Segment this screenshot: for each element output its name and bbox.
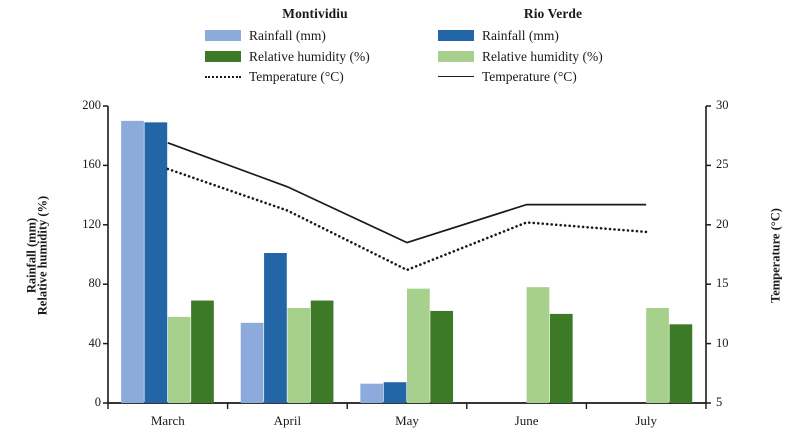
bar (311, 301, 334, 403)
temperature-line-dotted (168, 169, 646, 270)
plot-area (0, 0, 793, 444)
y-axis-tick-label: 120 (55, 217, 101, 232)
x-axis-category-label: June (472, 413, 582, 429)
bar (287, 308, 310, 403)
bar (360, 384, 383, 403)
bar (144, 122, 167, 403)
y-axis-tick-label: 40 (55, 336, 101, 351)
y2-axis-tick-label: 5 (716, 395, 756, 410)
bar (121, 121, 144, 403)
bar (168, 317, 191, 403)
x-axis-category-label: March (113, 413, 223, 429)
bar (191, 301, 214, 403)
y-axis-tick-label: 80 (55, 276, 101, 291)
y2-axis-tick-label: 25 (716, 157, 756, 172)
bar (550, 314, 573, 403)
bar (527, 287, 550, 403)
bar (646, 308, 669, 403)
y-axis-tick-label: 160 (55, 157, 101, 172)
y-axis-tick-label: 0 (55, 395, 101, 410)
y2-axis-tick-label: 30 (716, 98, 756, 113)
chart-figure: Montividiu Rainfall (mm) Relative humidi… (0, 0, 793, 444)
bar (384, 382, 407, 403)
temperature-line-solid (168, 143, 646, 243)
bar (264, 253, 287, 403)
y2-axis-tick-label: 15 (716, 276, 756, 291)
y2-axis-tick-label: 20 (716, 217, 756, 232)
y2-axis-tick-label: 10 (716, 336, 756, 351)
x-axis-category-label: May (352, 413, 462, 429)
bar (407, 289, 430, 403)
bar (430, 311, 453, 403)
x-axis-category-label: July (591, 413, 701, 429)
y-axis-tick-label: 200 (55, 98, 101, 113)
bar (670, 324, 693, 403)
x-axis-category-label: April (232, 413, 342, 429)
bar (241, 323, 264, 403)
